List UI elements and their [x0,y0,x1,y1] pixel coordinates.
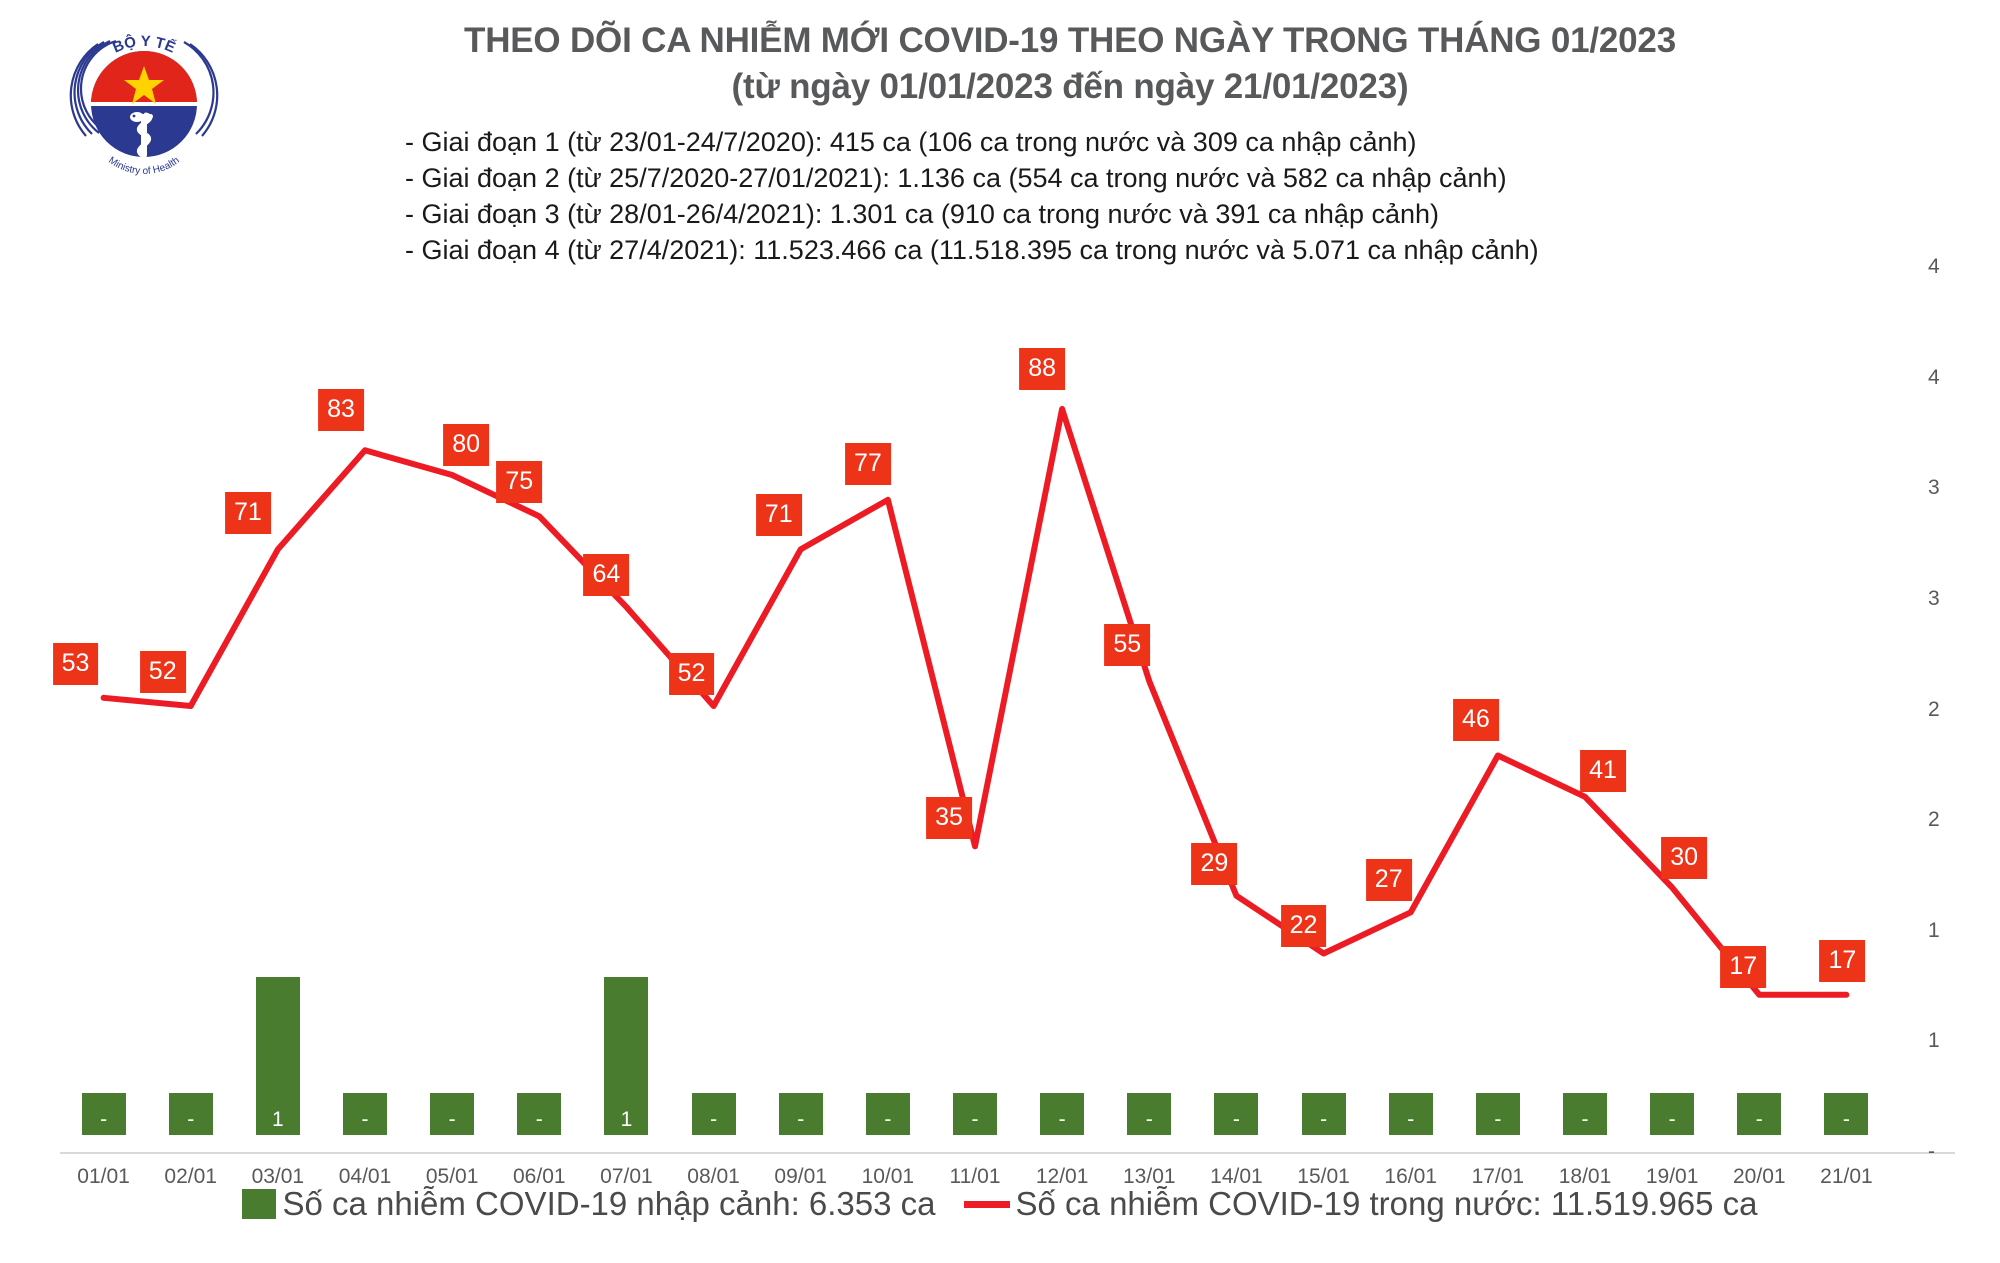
legend-label-domestic: Số ca nhiễm COVID-19 trong nước: 11.519.… [1016,1185,1758,1223]
domestic-value-label: 83 [318,389,364,431]
y-axis-tick-label: 2 [1928,808,1998,832]
y-axis-tick-label: 2 [1928,698,1998,722]
domestic-value-label: 17 [1720,946,1766,988]
y-axis-tick-label: 3 [1928,476,1998,500]
imported-value-label: - [100,1109,107,1130]
imported-value-label: - [1233,1109,1240,1130]
imported-value-label: 1 [272,1109,284,1130]
ministry-of-health-logo: BỘ Y TẾ Ministry of Health [58,16,230,192]
imported-value-label: 1 [621,1109,633,1130]
domestic-value-label: 35 [926,797,972,839]
imported-value-label: - [972,1109,979,1130]
y-axis-tick-label: 3 [1928,587,1998,611]
y-axis-tick-label: 4 [1928,255,1998,279]
imported-value-label: - [1146,1109,1153,1130]
imported-value-label: - [536,1109,543,1130]
domestic-value-label: 71 [225,492,271,534]
domestic-value-label: 17 [1820,940,1866,982]
legend-item-imported[interactable]: Số ca nhiễm COVID-19 nhập cảnh: 6.353 ca [242,1185,935,1223]
imported-value-label: - [710,1109,717,1130]
domestic-value-label: 55 [1104,624,1150,666]
domestic-value-label: 53 [53,643,99,685]
imported-value-label: - [1407,1109,1414,1130]
red-line-icon [964,1201,1010,1208]
chart-legend: Số ca nhiễm COVID-19 nhập cảnh: 6.353 ca… [0,1185,2000,1223]
legend-item-domestic[interactable]: Số ca nhiễm COVID-19 trong nước: 11.519.… [936,1185,1758,1223]
domestic-value-label: 75 [496,461,542,503]
y-axis-tick-label: 4 [1928,366,1998,390]
domestic-value-label: 64 [584,554,630,596]
domestic-value-label: 46 [1453,699,1499,741]
chart-header: THEO DÕI CA NHIỄM MỚI COVID-19 THEO NGÀY… [250,18,1890,268]
phase-summary-block: - Giai đoạn 1 (từ 23/01-24/7/2020): 415 … [250,124,1890,268]
domestic-value-label: 29 [1192,843,1238,885]
domestic-value-label: 71 [756,494,802,536]
imported-value-label: - [1059,1109,1066,1130]
chart-plot-area: --1---1-------------- 535271838075645271… [0,255,2000,1135]
domestic-value-label: 52 [669,653,715,695]
domestic-value-label: 77 [845,443,891,485]
domestic-value-label: 22 [1281,905,1327,947]
legend-label-imported: Số ca nhiễm COVID-19 nhập cảnh: 6.353 ca [282,1185,935,1223]
domestic-value-label: 27 [1366,859,1412,901]
chart-inner: --1---1-------------- 535271838075645271… [60,255,1890,1135]
phase-line-3: - Giai đoạn 3 (từ 28/01-26/4/2021): 1.30… [405,196,1890,232]
logo-svg: BỘ Y TẾ Ministry of Health [58,16,230,192]
domestic-value-label: 52 [140,651,186,693]
imported-value-label: - [797,1109,804,1130]
imported-value-label: - [1582,1109,1589,1130]
imported-value-label: - [1843,1109,1850,1130]
y-axis-tick-label: - [1928,1140,1998,1164]
domestic-value-label: 80 [443,424,489,466]
green-square-icon [242,1189,276,1219]
imported-value-label: - [1669,1109,1676,1130]
domestic-value-label: 30 [1661,837,1707,879]
imported-value-label: - [1756,1109,1763,1130]
imported-value-label: - [1320,1109,1327,1130]
y-axis-tick-label: 1 [1928,1029,1998,1053]
chart-title-line-1: THEO DÕI CA NHIỄM MỚI COVID-19 THEO NGÀY… [250,18,1890,64]
domestic-cases-line [60,255,1890,1135]
line-series-path [104,409,1847,995]
imported-value-label: - [187,1109,194,1130]
domestic-value-label: 41 [1580,750,1626,792]
y-axis-tick-label: 1 [1928,919,1998,943]
imported-value-label: - [362,1109,369,1130]
imported-value-label: - [884,1109,891,1130]
phase-line-1: - Giai đoạn 1 (từ 23/01-24/7/2020): 415 … [405,124,1890,160]
imported-value-label: - [1494,1109,1501,1130]
phase-line-2: - Giai đoạn 2 (từ 25/7/2020-27/01/2021):… [405,160,1890,196]
chart-title-line-2: (từ ngày 01/01/2023 đến ngày 21/01/2023) [250,64,1890,110]
domestic-value-label: 88 [1019,348,1065,390]
x-axis-baseline [60,1152,1955,1154]
imported-value-label: - [449,1109,456,1130]
